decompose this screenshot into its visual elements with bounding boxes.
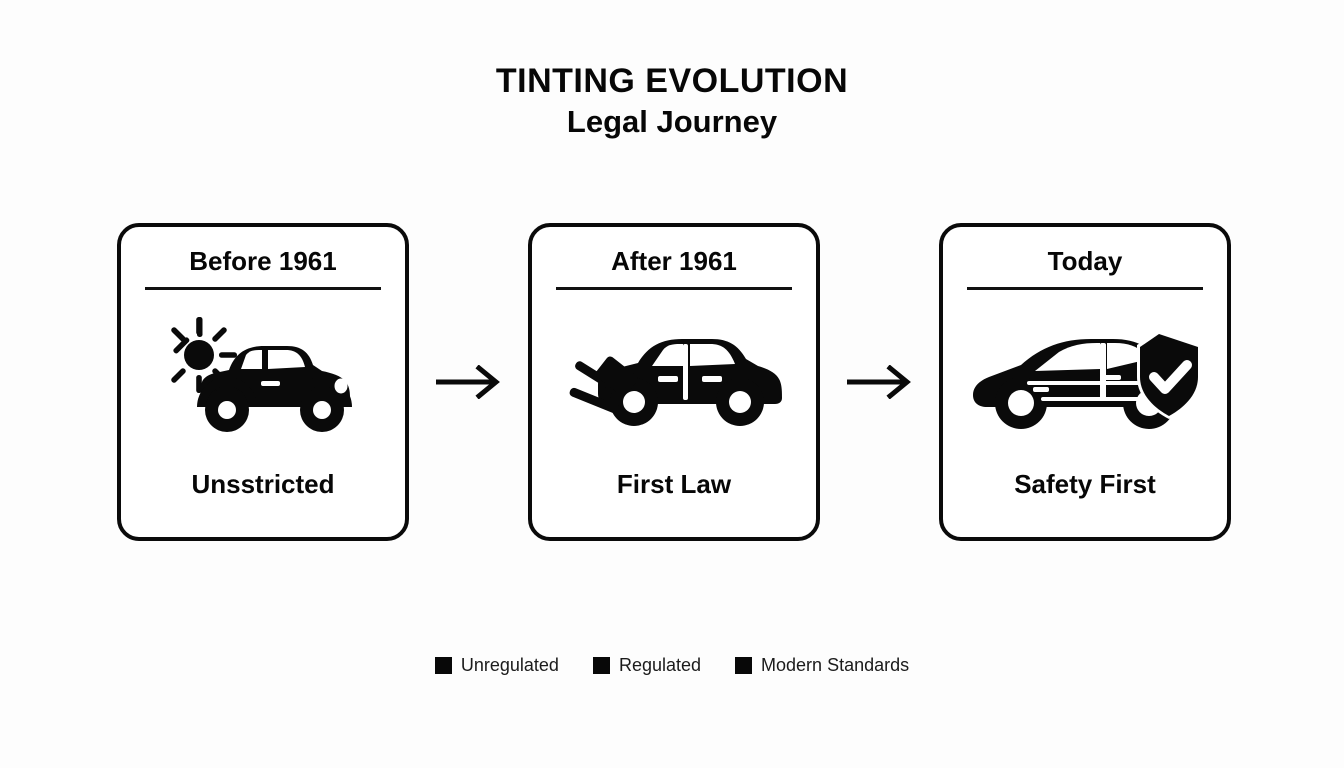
title-subtitle: Legal Journey — [0, 104, 1344, 141]
arrow-right-icon — [821, 365, 939, 399]
legend-item-modern-standards: Modern Standards — [735, 655, 909, 676]
legend-swatch-icon — [735, 657, 752, 674]
card-heading: Today — [1048, 247, 1123, 276]
vintage-car-with-sun-icon — [121, 290, 405, 471]
legend: Unregulated Regulated Modern Standards — [0, 655, 1344, 676]
legend-swatch-icon — [593, 657, 610, 674]
card-caption: Safety First — [1014, 470, 1156, 499]
card-heading: Before 1961 — [189, 247, 336, 276]
legend-item-regulated: Regulated — [593, 655, 701, 676]
sedan-car-with-gavel-icon — [532, 290, 816, 471]
modern-car-with-shield-check-icon — [943, 290, 1227, 471]
legend-swatch-icon — [435, 657, 452, 674]
card-heading: After 1961 — [611, 247, 737, 276]
legend-label: Unregulated — [461, 655, 559, 676]
title-main: TINTING EVOLUTION — [0, 62, 1344, 100]
timeline-card-today[interactable]: Today — [939, 223, 1231, 541]
card-caption: Unsstricted — [191, 470, 334, 499]
page-title: TINTING EVOLUTION Legal Journey — [0, 62, 1344, 141]
card-caption: First Law — [617, 470, 731, 499]
legend-label: Regulated — [619, 655, 701, 676]
timeline-flow: Before 1961 — [117, 222, 1231, 542]
legend-label: Modern Standards — [761, 655, 909, 676]
arrow-right-icon — [410, 365, 528, 399]
timeline-card-before-1961[interactable]: Before 1961 — [117, 223, 409, 541]
legend-item-unregulated: Unregulated — [435, 655, 559, 676]
timeline-card-after-1961[interactable]: After 1961 — [528, 223, 820, 541]
